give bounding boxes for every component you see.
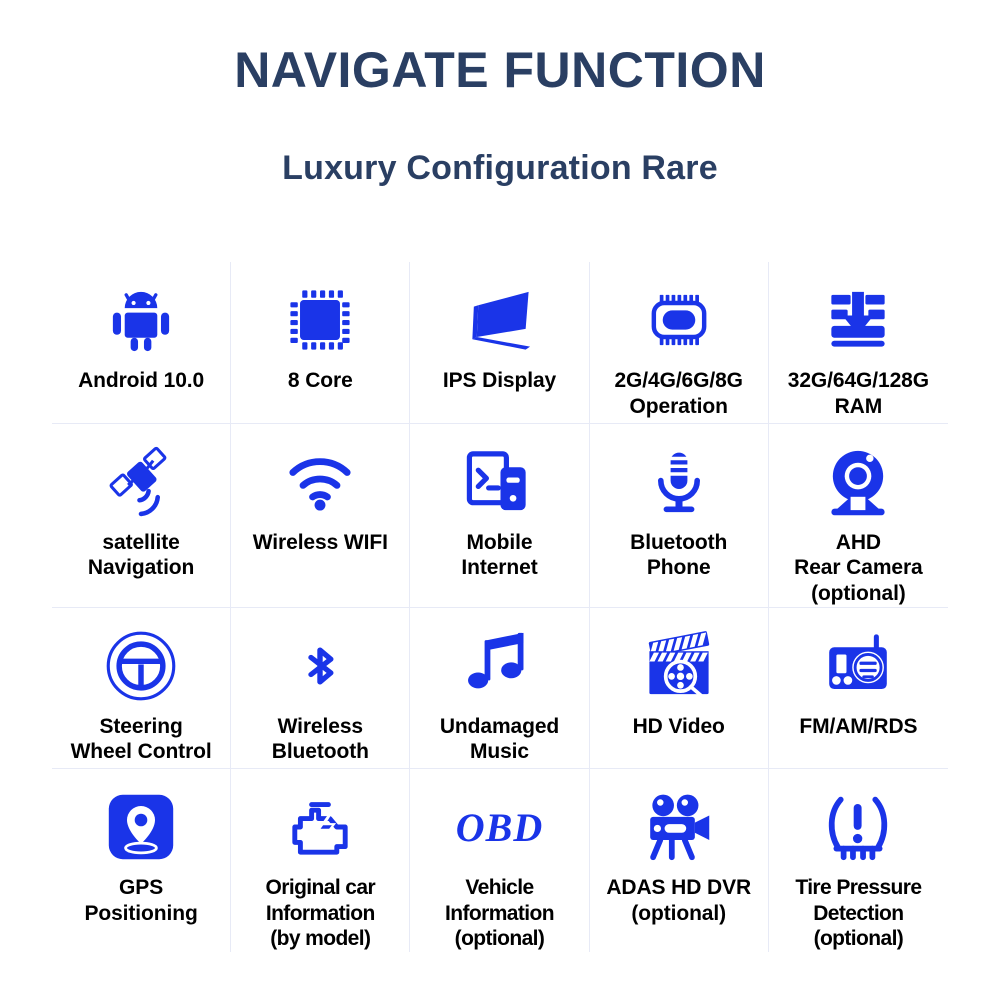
feature-label: Undamaged Music: [440, 714, 559, 765]
engine-check-icon: [281, 785, 359, 869]
feature-cell: Bluetooth Phone: [590, 424, 769, 608]
steering-wheel-icon: [102, 624, 180, 708]
feature-label: Wireless WIFI: [253, 530, 388, 556]
feature-label: Android 10.0: [78, 368, 204, 394]
feature-cell: OBDVehicle Information (optional): [410, 769, 589, 952]
feature-cell: 2G/4G/6G/8G Operation: [590, 262, 769, 424]
feature-cell: GPS Positioning: [52, 769, 231, 952]
page-subtitle: Luxury Configuration Rare: [0, 97, 1000, 188]
feature-label: AHD Rear Camera (optional): [794, 530, 922, 607]
feature-label: Vehicle Information (optional): [445, 875, 554, 952]
radio-icon: [820, 624, 896, 708]
feature-label: ADAS HD DVR (optional): [606, 875, 751, 926]
feature-cell: Undamaged Music: [410, 608, 589, 770]
feature-cell: Tire Pressure Detection (optional): [769, 769, 948, 952]
feature-cell: Android 10.0: [52, 262, 231, 424]
feature-label: FM/AM/RDS: [799, 714, 917, 740]
feature-label: IPS Display: [443, 368, 556, 394]
feature-label: Steering Wheel Control: [71, 714, 212, 765]
feature-cell: FM/AM/RDS: [769, 608, 948, 770]
feature-label: Bluetooth Phone: [630, 530, 727, 581]
ips-display-icon: [458, 278, 540, 362]
feature-grid: Android 10.08 CoreIPS Display2G/4G/6G/8G…: [52, 262, 948, 952]
mobile-terminal-icon: [462, 440, 536, 524]
feature-label: Wireless Bluetooth: [272, 714, 369, 765]
clapperboard-icon: [639, 624, 719, 708]
microphone-icon: [644, 440, 714, 524]
bluetooth-icon: [290, 624, 350, 708]
feature-cell: 8 Core: [231, 262, 410, 424]
feature-label: 2G/4G/6G/8G Operation: [614, 368, 742, 419]
wifi-icon: [280, 440, 360, 524]
feature-cell: Mobile Internet: [410, 424, 589, 608]
feature-cell: Wireless Bluetooth: [231, 608, 410, 770]
feature-poster: NAVIGATE FUNCTION Luxury Configuration R…: [0, 0, 1000, 1000]
tire-pressure-icon: [821, 785, 895, 869]
music-note-icon: [463, 624, 535, 708]
feature-cell: AHD Rear Camera (optional): [769, 424, 948, 608]
feature-label: HD Video: [633, 714, 725, 740]
satellite-icon: [103, 440, 179, 524]
cpu-chip-icon: [283, 278, 357, 362]
feature-label: 8 Core: [288, 368, 353, 394]
feature-cell: 32G/64G/128G RAM: [769, 262, 948, 424]
obd-text-icon: OBD: [456, 785, 543, 869]
memory-chip-icon: [640, 278, 718, 362]
feature-cell: HD Video: [590, 608, 769, 770]
feature-cell: Steering Wheel Control: [52, 608, 231, 770]
feature-label: GPS Positioning: [84, 875, 197, 926]
feature-cell: ADAS HD DVR (optional): [590, 769, 769, 952]
feature-label: 32G/64G/128G RAM: [788, 368, 929, 419]
android-robot-icon: [104, 278, 178, 362]
feature-cell: Wireless WIFI: [231, 424, 410, 608]
ram-download-icon: [820, 278, 896, 362]
feature-cell: Original car Information (by model): [231, 769, 410, 952]
feature-label: satellite Navigation: [88, 530, 194, 581]
feature-label: Tire Pressure Detection (optional): [795, 875, 921, 952]
feature-label: Original car Information (by model): [266, 875, 376, 952]
feature-label: Mobile Internet: [461, 530, 537, 581]
feature-cell: IPS Display: [410, 262, 589, 424]
webcam-icon: [821, 440, 895, 524]
gps-pin-icon: [106, 785, 176, 869]
page-title: NAVIGATE FUNCTION: [0, 44, 1000, 97]
poster-header: NAVIGATE FUNCTION Luxury Configuration R…: [0, 0, 1000, 188]
feature-cell: satellite Navigation: [52, 424, 231, 608]
movie-camera-icon: [641, 785, 717, 869]
